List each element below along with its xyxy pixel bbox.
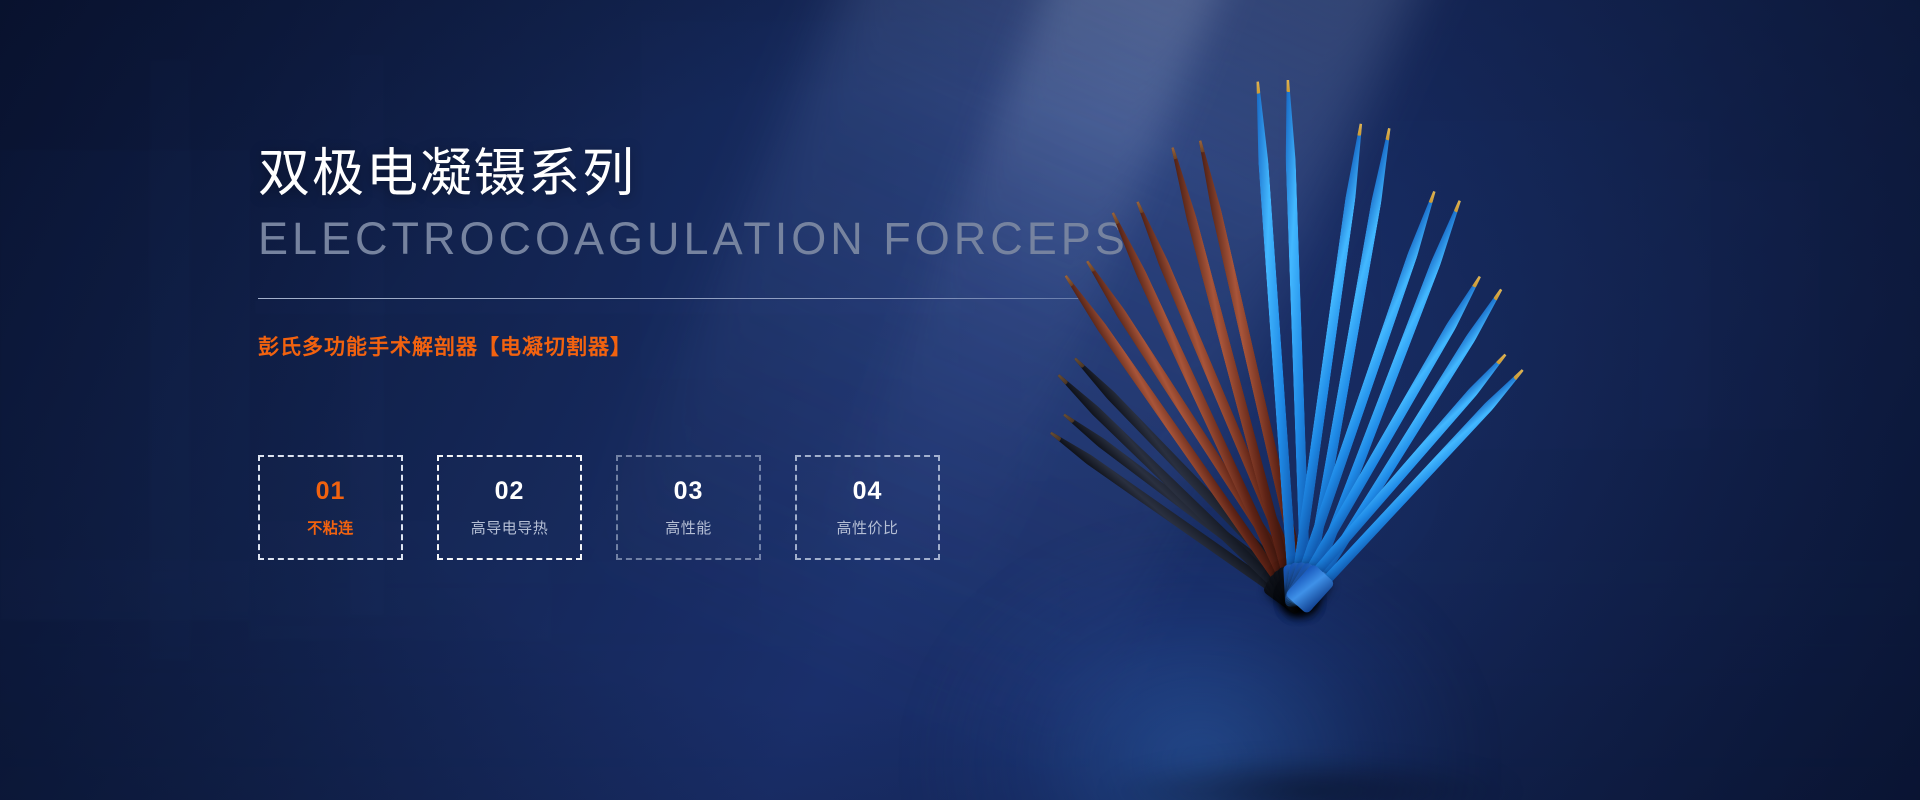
feature-box-02[interactable]: 02高导电导热 <box>437 455 582 560</box>
feature-caption: 不粘连 <box>307 521 354 536</box>
feature-number: 02 <box>495 479 525 504</box>
feature-caption: 高性能 <box>665 521 712 536</box>
title-divider <box>258 298 1080 299</box>
product-tagline: 彭氏多功能手术解剖器【电凝切割器】 <box>258 337 632 358</box>
page-subtitle-english: ELECTROCOAGULATION FORCEPS <box>258 216 1129 261</box>
feature-box-04[interactable]: 04高性价比 <box>795 455 940 560</box>
feature-caption: 高性价比 <box>836 521 898 536</box>
feature-number: 04 <box>853 479 883 504</box>
feature-list: 01不粘连02高导电导热03高性能04高性价比 <box>258 455 940 560</box>
feature-box-01[interactable]: 01不粘连 <box>258 455 403 560</box>
product-banner: 双极电凝镊系列 ELECTROCOAGULATION FORCEPS 彭氏多功能… <box>0 0 1920 800</box>
feature-box-03[interactable]: 03高性能 <box>616 455 761 560</box>
feature-number: 01 <box>316 479 346 504</box>
feature-number: 03 <box>674 479 704 504</box>
feature-caption: 高导电导热 <box>471 521 549 536</box>
page-title: 双极电凝镊系列 <box>258 148 636 200</box>
banner-content: 双极电凝镊系列 ELECTROCOAGULATION FORCEPS 彭氏多功能… <box>0 0 1920 800</box>
